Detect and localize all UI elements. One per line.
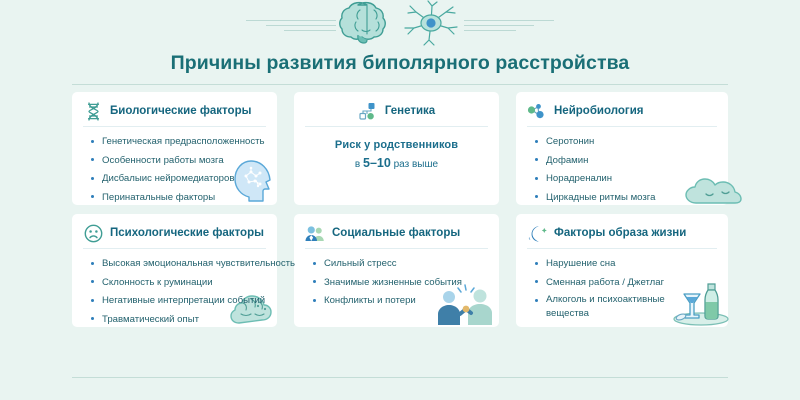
card-biological[interactable]: Биологические факторы Генетическая предр… [72, 92, 277, 205]
list-item: Дисбалыис нейромедиаторов [91, 171, 266, 186]
neuron-icon [398, 0, 464, 51]
page-title: Причины развития биполярного расстройств… [0, 52, 800, 75]
sad-face-icon [83, 223, 103, 243]
card-title: Генетика [385, 105, 435, 117]
card-title: Факторы образа жизни [554, 227, 686, 239]
list-item: Алкоголь и психоактивные вещества [535, 293, 696, 321]
pedigree-chart-icon [358, 101, 378, 121]
bullet-list: Сильный стресс Значимые жизненные событи… [305, 256, 488, 308]
bullet-list: Высокая эмоциональная чувствительность С… [83, 256, 266, 327]
bullet-list: Нарушение сна Сменная работа / Джетлаг А… [527, 256, 717, 321]
list-item: Норадреналин [535, 171, 717, 186]
list-item: Нарушение сна [535, 256, 717, 271]
divider-top [72, 84, 728, 85]
header: Причины развития биполярного расстройств… [0, 0, 800, 86]
header-artwork [0, 2, 800, 48]
card-title: Биологические факторы [110, 105, 251, 117]
card-divider [527, 126, 717, 127]
moon-stars-icon [527, 223, 547, 243]
divider-bottom [72, 377, 728, 378]
list-item: Генетическая предрасположенность [91, 134, 266, 149]
stat-value: 5–10 [363, 156, 391, 170]
list-item: Негативные интерпретации событий [91, 293, 266, 308]
list-item: Особенности работы мозга [91, 153, 266, 168]
card-header: Биологические факторы [83, 100, 266, 122]
list-item: Травматический опыт [91, 312, 266, 327]
dna-icon [83, 101, 103, 121]
card-divider [305, 248, 488, 249]
card-header: Социальные факторы [305, 222, 488, 244]
molecule-icon [527, 101, 547, 121]
list-item: Конфликты и потери [313, 293, 488, 308]
two-people-icon [305, 223, 325, 243]
card-title: Нейробиология [554, 105, 643, 117]
list-item: Значимые жизненные события [313, 275, 488, 290]
card-header: Нейробиология [527, 100, 717, 122]
stat-caption: Риск у родственников [305, 139, 488, 151]
card-header: Психологические факторы [83, 222, 266, 244]
card-title: Социальные факторы [332, 227, 460, 239]
card-divider [83, 126, 266, 127]
card-genetics[interactable]: Генетика Риск у родственников в 5–10 раз… [294, 92, 499, 205]
card-header: Факторы образа жизни [527, 222, 717, 244]
list-item: Серотонин [535, 134, 717, 149]
card-neurobiology[interactable]: Нейробиология Серотонин Дофамин Норадрен… [516, 92, 728, 205]
bullet-list: Серотонин Дофамин Норадреналин Циркадные… [527, 134, 717, 205]
list-item: Циркадные ритмы мозга [535, 190, 717, 205]
infographic-page: Причины развития биполярного расстройств… [0, 0, 800, 400]
card-title: Психологические факторы [110, 227, 264, 239]
card-psychological[interactable]: Психологические факторы Высокая эмоциона… [72, 214, 277, 327]
header-decoration-lines-right [464, 20, 554, 31]
card-lifestyle[interactable]: Факторы образа жизни Нарушение сна Сменн… [516, 214, 728, 327]
stat-value-line: в 5–10 раз выше [305, 156, 488, 170]
card-divider [527, 248, 717, 249]
list-item: Перинатальные факторы [91, 190, 266, 205]
card-divider [305, 126, 488, 127]
list-item: Высокая эмоциональная чувствительность [91, 256, 266, 271]
bullet-list: Генетическая предрасположенность Особенн… [83, 134, 266, 205]
list-item: Сменная работа / Джетлаг [535, 275, 717, 290]
stat-suffix: раз выше [391, 159, 438, 170]
brain-icon [336, 0, 398, 51]
list-item: Склонность к руминации [91, 275, 266, 290]
factors-grid: Биологические факторы Генетическая предр… [72, 92, 728, 327]
card-social[interactable]: Социальные факторы Сильный стресс Значим… [294, 214, 499, 327]
header-decoration-lines-left [246, 20, 336, 31]
genetics-stat: Риск у родственников в 5–10 раз выше [305, 139, 488, 170]
stat-prefix: в [355, 159, 363, 170]
card-header: Генетика [305, 100, 488, 122]
list-item: Дофамин [535, 153, 717, 168]
list-item: Сильный стресс [313, 256, 488, 271]
card-divider [83, 248, 266, 249]
